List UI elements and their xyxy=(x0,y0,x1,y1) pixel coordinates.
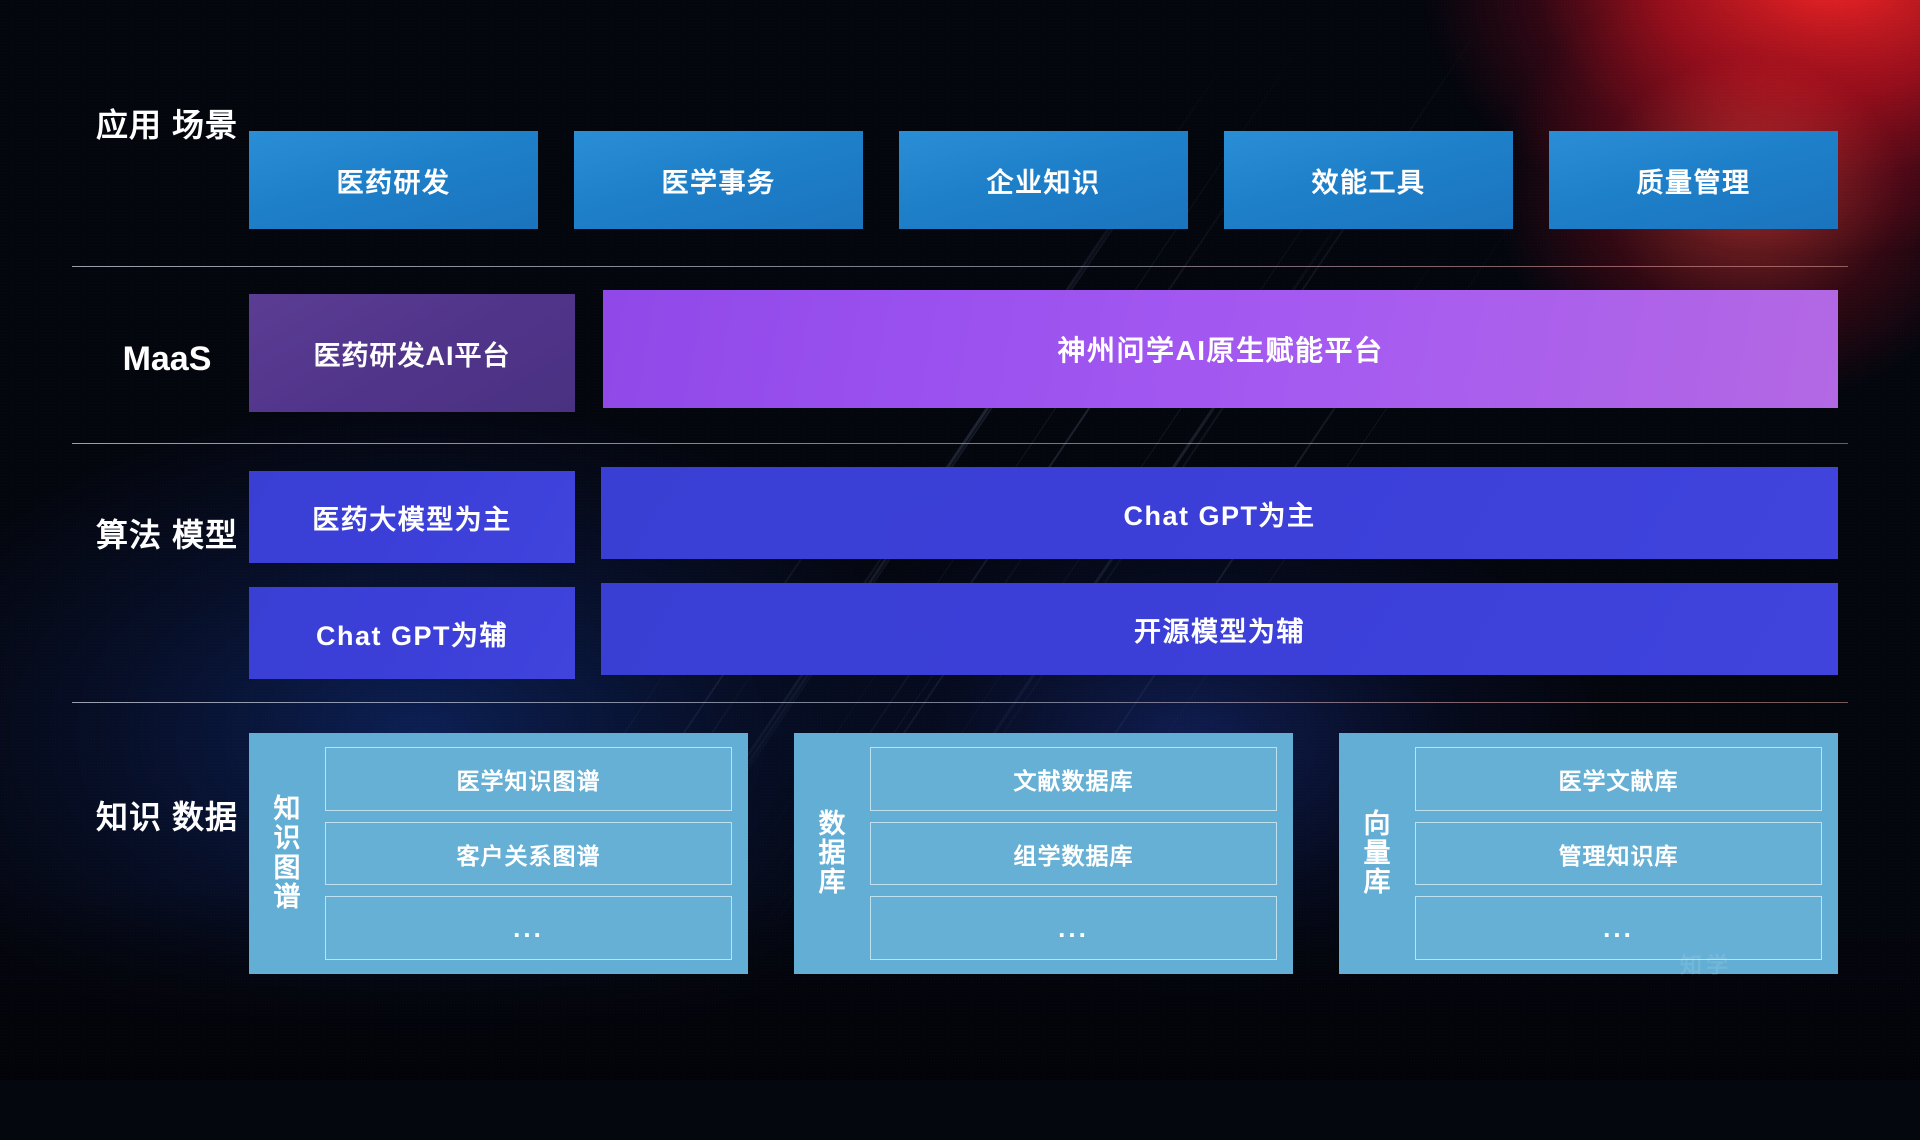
knowledge-item-list: 医学知识图谱 客户关系图谱 ... xyxy=(325,747,732,960)
maas-block-label: 医药研发AI平台 xyxy=(314,334,511,373)
knowledge-item-more[interactable]: ... xyxy=(870,896,1277,960)
title-char: 识 xyxy=(274,824,301,853)
algo-block-open-source-auxiliary[interactable]: 开源模型为辅 xyxy=(601,583,1838,675)
knowledge-item-label: 医学知识图谱 xyxy=(457,762,601,796)
divider-1 xyxy=(72,266,1848,267)
knowledge-item-list: 文献数据库 组学数据库 ... xyxy=(870,747,1277,960)
row-label-line: 算法 xyxy=(96,517,162,553)
knowledge-panel-title: 数 据 库 xyxy=(808,747,856,960)
row-label-line: 应用 xyxy=(96,107,162,143)
knowledge-panel-graph[interactable]: 知 识 图 谱 医学知识图谱 客户关系图谱 ... xyxy=(249,733,748,974)
maas-block-shenzhou-wenxue-platform[interactable]: 神州问学AI原生赋能平台 xyxy=(603,290,1838,408)
title-char: 库 xyxy=(819,868,846,897)
title-char: 向 xyxy=(1364,810,1391,839)
divider-3 xyxy=(72,702,1848,703)
algo-block-label: Chat GPT为辅 xyxy=(316,614,508,653)
knowledge-item-omics-db[interactable]: 组学数据库 xyxy=(870,822,1277,886)
algo-block-label: 医药大模型为主 xyxy=(312,498,512,537)
row-label-line: 知识 xyxy=(96,799,162,835)
knowledge-item-crm-kg[interactable]: 客户关系图谱 xyxy=(325,822,732,886)
knowledge-item-label: 客户关系图谱 xyxy=(457,837,601,871)
knowledge-item-label: ... xyxy=(513,913,544,944)
algo-block-chatgpt-auxiliary[interactable]: Chat GPT为辅 xyxy=(249,587,575,679)
app-block-medical-affairs[interactable]: 医学事务 xyxy=(574,131,863,229)
knowledge-item-label: 医学文献库 xyxy=(1559,762,1679,796)
title-char: 库 xyxy=(1364,868,1391,897)
row-label-line: 模型 xyxy=(172,517,238,553)
title-char: 量 xyxy=(1364,839,1391,868)
maas-block-drug-rd-ai-platform[interactable]: 医药研发AI平台 xyxy=(249,294,575,412)
knowledge-item-more[interactable]: ... xyxy=(325,896,732,960)
app-block-efficiency-tools[interactable]: 效能工具 xyxy=(1224,131,1513,229)
title-char: 据 xyxy=(819,839,846,868)
row-label-application-scenario: 应用 场景 xyxy=(92,108,242,144)
row-label-knowledge-data: 知识 数据 xyxy=(92,800,242,836)
row-label-algorithm-model: 算法 模型 xyxy=(92,518,242,554)
divider-2 xyxy=(72,443,1848,444)
knowledge-item-management-knowledge[interactable]: 管理知识库 xyxy=(1415,822,1822,886)
knowledge-panel-title: 向 量 库 xyxy=(1353,747,1401,960)
knowledge-item-label: 文献数据库 xyxy=(1014,762,1134,796)
algo-block-label: Chat GPT为主 xyxy=(1123,494,1315,533)
title-char: 数 xyxy=(819,810,846,839)
maas-block-label: 神州问学AI原生赋能平台 xyxy=(1057,329,1383,369)
row-label-line: MaaS xyxy=(123,340,212,378)
algo-block-label: 开源模型为辅 xyxy=(1134,610,1305,649)
app-block-label: 医学事务 xyxy=(662,161,776,200)
knowledge-panel-title: 知 识 图 谱 xyxy=(263,747,311,960)
knowledge-item-list: 医学文献库 管理知识库 ... xyxy=(1415,747,1822,960)
app-block-label: 企业知识 xyxy=(987,161,1101,200)
app-block-quality-management[interactable]: 质量管理 xyxy=(1549,131,1838,229)
knowledge-panel-database[interactable]: 数 据 库 文献数据库 组学数据库 ... xyxy=(794,733,1293,974)
watermark: 知学 xyxy=(1680,948,1732,980)
app-block-label: 效能工具 xyxy=(1312,161,1426,200)
algo-block-drug-large-model-primary[interactable]: 医药大模型为主 xyxy=(249,471,575,563)
algo-block-chatgpt-primary[interactable]: Chat GPT为主 xyxy=(601,467,1838,559)
knowledge-item-medical-kg[interactable]: 医学知识图谱 xyxy=(325,747,732,811)
knowledge-item-label: 组学数据库 xyxy=(1014,837,1134,871)
app-block-label: 医药研发 xyxy=(337,161,451,200)
knowledge-item-medical-literature[interactable]: 医学文献库 xyxy=(1415,747,1822,811)
knowledge-panel-vector-store[interactable]: 向 量 库 医学文献库 管理知识库 ... xyxy=(1339,733,1838,974)
title-char: 图 xyxy=(274,854,301,883)
app-block-drug-rd[interactable]: 医药研发 xyxy=(249,131,538,229)
knowledge-item-literature-db[interactable]: 文献数据库 xyxy=(870,747,1277,811)
app-block-label: 质量管理 xyxy=(1637,161,1751,200)
title-char: 谱 xyxy=(274,883,301,912)
knowledge-item-more[interactable]: ... xyxy=(1415,896,1822,960)
row-label-maas: MaaS xyxy=(92,340,242,378)
knowledge-item-label: 管理知识库 xyxy=(1559,837,1679,871)
row-label-line: 数据 xyxy=(172,799,238,835)
knowledge-item-label: ... xyxy=(1058,913,1089,944)
row-label-line: 场景 xyxy=(172,107,238,143)
app-block-enterprise-knowledge[interactable]: 企业知识 xyxy=(899,131,1188,229)
knowledge-item-label: ... xyxy=(1603,913,1634,944)
title-char: 知 xyxy=(274,795,301,824)
